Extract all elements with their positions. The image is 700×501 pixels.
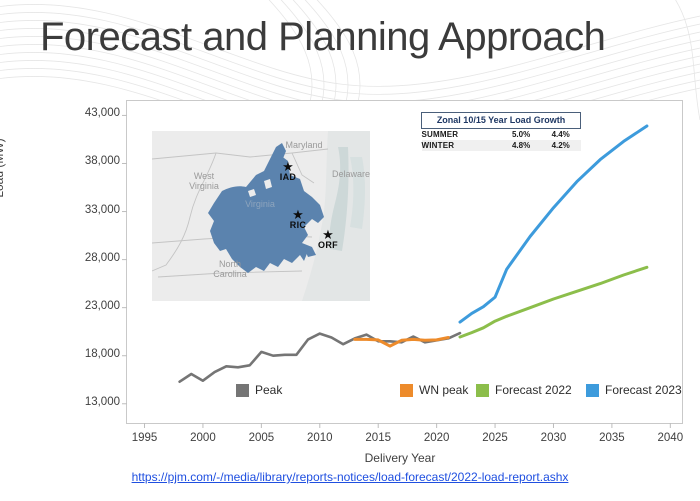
map-label-north-carolina-line2: Carolina bbox=[213, 269, 247, 279]
growth-row-10yr: 4.8% bbox=[501, 140, 541, 151]
map-label-north-carolina: North Carolina bbox=[200, 259, 260, 279]
slide-canvas: Forecast and Planning Approach 13,00018,… bbox=[0, 0, 700, 501]
map-label-delaware: Delaware bbox=[324, 169, 370, 179]
legend-label: Forecast 2023 bbox=[605, 383, 682, 397]
growth-table-header-row: Zonal 10/15 Year Load Growth bbox=[422, 113, 581, 129]
map-city-iad-label: IAD bbox=[270, 172, 306, 182]
map-label-north-carolina-line1: North bbox=[219, 259, 241, 269]
legend-swatch-icon bbox=[400, 384, 413, 397]
map-label-west-virginia: West Virginia bbox=[174, 171, 234, 191]
dominion-zone-map-inset: West Virginia Maryland Delaware Virginia… bbox=[152, 131, 370, 301]
growth-row-15yr: 4.2% bbox=[541, 140, 581, 151]
map-label-west-virginia-line2: Virginia bbox=[189, 181, 219, 191]
y-tick-label: 18,000 bbox=[58, 348, 120, 360]
x-tick-label: 2035 bbox=[587, 432, 637, 444]
y-tick-label: 43,000 bbox=[58, 107, 120, 119]
star-icon: ★ bbox=[310, 229, 346, 240]
growth-row-label: WINTER bbox=[422, 140, 502, 151]
growth-row-15yr: 4.4% bbox=[541, 129, 581, 141]
growth-table-row: SUMMER5.0%4.4% bbox=[422, 129, 581, 141]
x-tick-label: 2030 bbox=[528, 432, 578, 444]
growth-row-10yr: 5.0% bbox=[501, 129, 541, 141]
zonal-load-growth-table: Zonal 10/15 Year Load Growth SUMMER5.0%4… bbox=[421, 112, 581, 151]
star-icon: ★ bbox=[280, 209, 316, 220]
y-tick-label: 38,000 bbox=[58, 155, 120, 167]
growth-table-title: Zonal 10/15 Year Load Growth bbox=[422, 113, 581, 129]
x-tick-label: 2010 bbox=[295, 432, 345, 444]
y-tick-label: 33,000 bbox=[58, 204, 120, 216]
x-tick-label: 2025 bbox=[470, 432, 520, 444]
series-line-forecast-2023 bbox=[460, 126, 647, 322]
growth-row-label: SUMMER bbox=[422, 129, 502, 141]
legend-label: WN peak bbox=[419, 383, 468, 397]
x-tick-label: 1995 bbox=[120, 432, 170, 444]
growth-table-body: SUMMER5.0%4.4%WINTER4.8%4.2% bbox=[422, 129, 581, 152]
legend-item-wn-peak[interactable]: WN peak bbox=[400, 383, 468, 397]
star-icon: ★ bbox=[270, 161, 306, 172]
map-city-orf-label: ORF bbox=[310, 240, 346, 250]
map-label-virginia: Virginia bbox=[230, 199, 290, 209]
map-city-iad: ★ IAD bbox=[270, 161, 306, 182]
legend-swatch-icon bbox=[236, 384, 249, 397]
source-url-link[interactable]: https://pjm.com/-/media/library/reports-… bbox=[0, 470, 700, 484]
x-tick-label: 2015 bbox=[353, 432, 403, 444]
growth-table-row: WINTER4.8%4.2% bbox=[422, 140, 581, 151]
y-tick-label: 23,000 bbox=[58, 300, 120, 312]
x-tick-label: 2005 bbox=[236, 432, 286, 444]
map-label-west-virginia-line1: West bbox=[194, 171, 214, 181]
legend-label: Peak bbox=[255, 383, 282, 397]
map-graphic bbox=[152, 131, 370, 301]
legend-item-forecast-2023[interactable]: Forecast 2023 bbox=[586, 383, 682, 397]
legend-item-forecast-2022[interactable]: Forecast 2022 bbox=[476, 383, 572, 397]
legend-item-peak[interactable]: Peak bbox=[236, 383, 282, 397]
y-tick-label: 13,000 bbox=[58, 396, 120, 408]
chart-legend: PeakWN peakForecast 2022Forecast 2023 bbox=[236, 383, 636, 399]
map-city-ric: ★ RIC bbox=[280, 209, 316, 230]
legend-swatch-icon bbox=[586, 384, 599, 397]
y-tick-label: 28,000 bbox=[58, 252, 120, 264]
map-city-orf: ★ ORF bbox=[310, 229, 346, 250]
legend-label: Forecast 2022 bbox=[495, 383, 572, 397]
y-axis-title: Load (MW) bbox=[0, 108, 6, 228]
x-tick-label: 2040 bbox=[645, 432, 695, 444]
x-tick-label: 2020 bbox=[412, 432, 462, 444]
map-label-maryland: Maryland bbox=[274, 140, 334, 150]
legend-swatch-icon bbox=[476, 384, 489, 397]
x-axis-title: Delivery Year bbox=[300, 451, 500, 465]
growth-table-head: Zonal 10/15 Year Load Growth bbox=[422, 113, 581, 129]
x-tick-label: 2000 bbox=[178, 432, 228, 444]
